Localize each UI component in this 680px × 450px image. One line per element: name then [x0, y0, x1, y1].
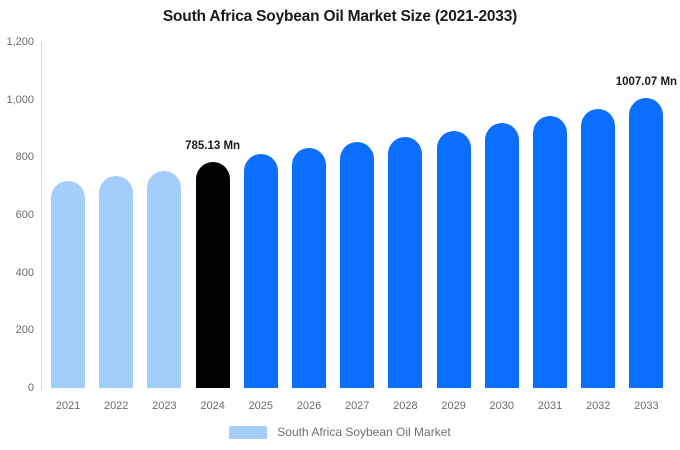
bar-2032[interactable] [581, 109, 615, 388]
bar-2027[interactable] [340, 142, 374, 388]
bar-2022[interactable] [99, 176, 133, 388]
legend-swatch-icon [229, 426, 267, 439]
bar-2029[interactable] [437, 131, 471, 388]
bar-2026[interactable] [292, 148, 326, 388]
x-axis-tick-label: 2029 [441, 400, 465, 412]
bar-2030[interactable] [485, 123, 519, 388]
bar-2021[interactable] [51, 181, 85, 388]
x-axis-tick-label: 2021 [56, 400, 80, 412]
bar-2031[interactable] [533, 116, 567, 388]
x-axis-tick-label: 2030 [490, 400, 514, 412]
x-axis-tick-label: 2025 [249, 400, 273, 412]
bar-value-label-2024: 785.13 Mn [185, 140, 240, 152]
x-axis-tick-label: 2024 [200, 400, 224, 412]
x-axis-tick-label: 2028 [393, 400, 417, 412]
bar-2023[interactable] [147, 171, 181, 388]
chart-legend: South Africa Soybean Oil Market [0, 425, 680, 439]
x-axis-tick-label: 2026 [297, 400, 321, 412]
x-axis-tick-label: 2027 [345, 400, 369, 412]
bar-2025[interactable] [244, 154, 278, 388]
plot-area [41, 42, 680, 388]
y-axis-tick-label: 200 [0, 324, 34, 336]
y-axis-tick-label: 0 [0, 382, 34, 394]
x-axis-tick-label: 2033 [634, 400, 658, 412]
y-axis-tick-label: 1,200 [0, 36, 34, 48]
x-axis-tick-label: 2023 [152, 400, 176, 412]
bar-chart: South Africa Soybean Oil Market Size (20… [0, 0, 680, 450]
y-axis-tick-label: 400 [0, 267, 34, 279]
x-axis-tick-label: 2022 [104, 400, 128, 412]
x-axis-tick-label: 2031 [538, 400, 562, 412]
bar-2028[interactable] [388, 137, 422, 388]
bar-2024[interactable] [196, 162, 230, 388]
y-axis-tick-label: 800 [0, 151, 34, 163]
legend-label: South Africa Soybean Oil Market [277, 425, 450, 439]
y-axis-tick-label: 1,000 [0, 94, 34, 106]
y-axis-tick-label: 600 [0, 209, 34, 221]
x-axis-tick-label: 2032 [586, 400, 610, 412]
bar-2033[interactable] [629, 98, 663, 388]
bar-value-label-2033: 1007.07 Mn [616, 76, 677, 88]
